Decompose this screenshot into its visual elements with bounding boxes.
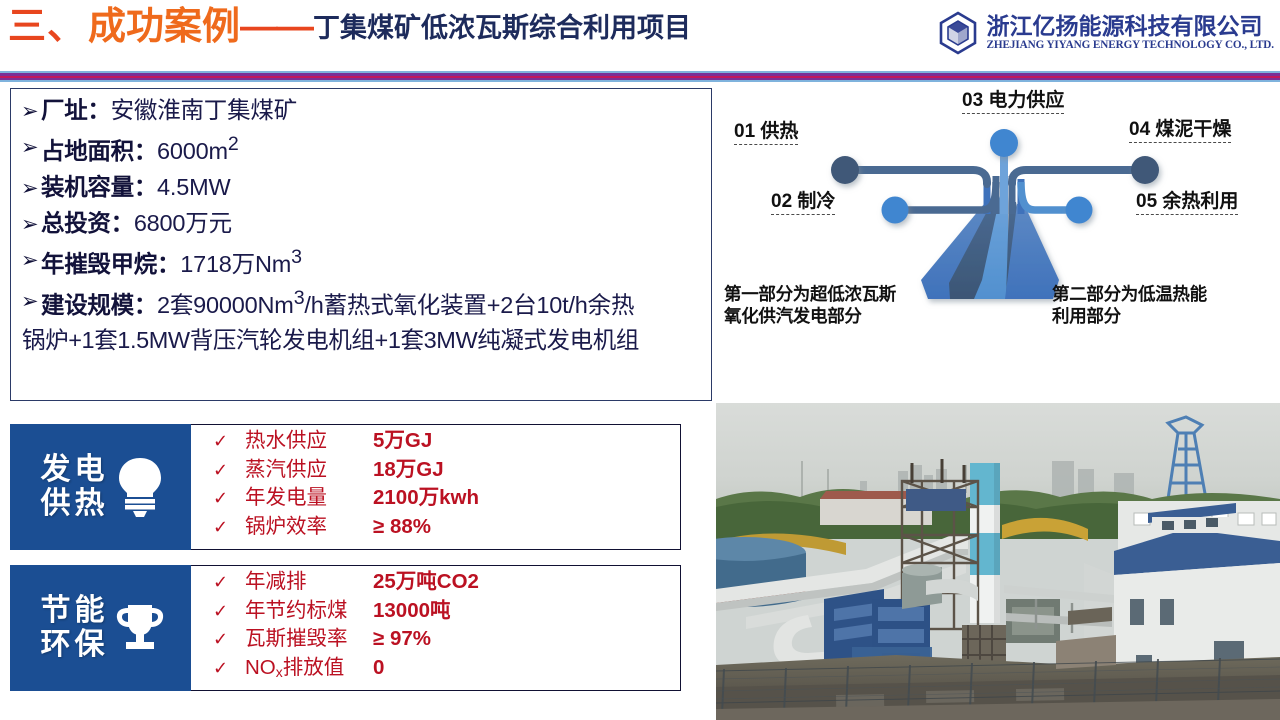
- diagram-caption-left: 第一部分为超低浓瓦斯 氧化供汽发电部分: [724, 284, 896, 328]
- card-badge-label: 节能 环保: [33, 594, 109, 661]
- check-icon: ✓: [213, 489, 245, 507]
- table-row: ✓ 年减排 25万吨CO2: [213, 572, 680, 593]
- info-value: 安徽淮南丁集煤矿: [111, 97, 297, 123]
- info-row-scale: ➢ 建设规模：2套90000Nm3/h蓄热式氧化装置+2台10t/h余热: [21, 289, 703, 317]
- info-value: 6800万元: [134, 210, 232, 236]
- info-separator: ：: [87, 97, 110, 123]
- lightbulb-icon: [111, 454, 169, 520]
- metric-label-suffix: 排放值: [283, 656, 345, 679]
- metric-value: 5万GJ: [373, 431, 432, 452]
- check-icon: ✓: [213, 461, 245, 479]
- info-separator: ：: [134, 291, 157, 317]
- diagram-label-02: 02 制冷: [771, 192, 835, 215]
- check-icon: ✓: [213, 659, 245, 677]
- info-label: 占地面积: [41, 138, 134, 164]
- slide-header: 三、 成功案例 —— 丁集煤矿低浓瓦斯综合利用项目 浙江亿扬能源科技有限公司 Z…: [0, 0, 1280, 72]
- diagram-caption-right-line2: 利用部分: [1052, 306, 1207, 328]
- page-title: 三、 成功案例 —— 丁集煤矿低浓瓦斯综合利用项目: [8, 8, 691, 46]
- info-value-part-b: /h蓄热式氧化装置+2台10t/h余热: [304, 291, 634, 317]
- card-badge: 节能 环保: [10, 565, 191, 691]
- card-energy-saving: 节能 环保 ✓ 年减排 25万吨CO2 ✓ 年节约标煤 13000吨 ✓ 瓦斯摧…: [10, 565, 681, 691]
- card-badge-label: 发电 供热: [33, 453, 109, 520]
- card-badge-label-line2: 供热: [41, 487, 109, 521]
- metric-label-prefix: NO: [245, 656, 276, 679]
- info-label: 年摧毁甲烷: [41, 251, 157, 277]
- check-icon: ✓: [213, 432, 245, 450]
- table-row: ✓ 年发电量 2100万kwh: [213, 488, 680, 509]
- node-01: [831, 156, 859, 184]
- info-value-part-a: 2套90000Nm: [157, 291, 294, 317]
- table-row: ✓ 瓦斯摧毁率 ≥ 97%: [213, 629, 680, 650]
- check-icon: ✓: [213, 518, 245, 536]
- metric-label: 蒸汽供应: [245, 460, 373, 481]
- title-dash: ——: [240, 8, 312, 46]
- info-value: 4.5MW: [157, 174, 230, 200]
- table-row: ✓ NOx排放值 0: [213, 658, 680, 679]
- info-separator: ：: [157, 251, 180, 277]
- header-divider: [0, 71, 1280, 82]
- arrow-bullet-icon: ➢: [21, 214, 41, 235]
- info-row-methane: ➢ 年摧毁甲烷：1718万Nm3: [21, 248, 703, 276]
- metric-value: 13000吨: [373, 601, 451, 622]
- hexagon-cube-logo-icon: [935, 10, 981, 56]
- info-value-sup: 3: [291, 246, 302, 268]
- metric-value: 18万GJ: [373, 460, 444, 481]
- diagram-label-04: 04 煤泥干燥: [1129, 120, 1231, 143]
- info-value: 6000m: [157, 138, 228, 164]
- check-icon: ✓: [213, 573, 245, 591]
- metric-value: ≥ 88%: [373, 517, 431, 538]
- metric-label-subscript: x: [276, 664, 283, 680]
- info-row-capacity: ➢ 装机容量：4.5MW: [21, 176, 703, 200]
- node-03: [990, 129, 1018, 157]
- company-logo: 浙江亿扬能源科技有限公司 ZHEJIANG YIYANG ENERGY TECH…: [935, 10, 1274, 56]
- metric-label: 瓦斯摧毁率: [245, 629, 373, 650]
- table-row: ✓ 年节约标煤 13000吨: [213, 601, 680, 622]
- arrow-bullet-icon: ➢: [21, 137, 41, 158]
- info-row-scale-continued: 锅炉+1套1.5MW背压汽轮发电机组+1套3MW纯凝式发电机组: [21, 329, 703, 353]
- card-badge-label-line1: 发电: [41, 453, 109, 487]
- card-badge-label-line1: 节能: [41, 594, 109, 628]
- diagram-label-05: 05 余热利用: [1136, 192, 1238, 215]
- site-photo-graphic: [716, 403, 1280, 720]
- diagram-caption-left-line2: 氧化供汽发电部分: [724, 306, 896, 328]
- node-02: [882, 197, 909, 224]
- info-separator: ：: [111, 210, 134, 236]
- info-separator: ：: [134, 174, 157, 200]
- company-name-en: ZHEJIANG YIYANG ENERGY TECHNOLOGY CO., L…: [987, 39, 1274, 52]
- arrow-bullet-icon: ➢: [21, 101, 41, 122]
- table-row: ✓ 蒸汽供应 18万GJ: [213, 460, 680, 481]
- info-label: 厂址: [41, 97, 87, 123]
- info-label: 总投资: [41, 210, 111, 236]
- table-row: ✓ 锅炉效率 ≥ 88%: [213, 517, 680, 538]
- diagram-caption-right-line1: 第二部分为低温热能: [1052, 284, 1207, 306]
- info-row-area: ➢ 占地面积：6000m2: [21, 135, 703, 163]
- arrow-bullet-icon: ➢: [21, 250, 41, 271]
- metric-label: 年发电量: [245, 488, 373, 509]
- diagram-label-03: 03 电力供应: [962, 91, 1064, 114]
- metric-value: 0: [373, 658, 384, 679]
- info-value-sup: 2: [228, 133, 239, 155]
- metric-value: 25万吨CO2: [373, 572, 479, 593]
- check-icon: ✓: [213, 602, 245, 620]
- metric-value: ≥ 97%: [373, 629, 431, 650]
- metric-value: 2100万kwh: [373, 488, 479, 509]
- card-metrics-table: ✓ 热水供应 5万GJ ✓ 蒸汽供应 18万GJ ✓ 年发电量 2100万kwh…: [191, 424, 681, 550]
- info-value: 1718万Nm: [180, 251, 291, 277]
- project-site-photo: [716, 403, 1280, 720]
- diagram-caption-left-line1: 第一部分为超低浓瓦斯: [724, 284, 896, 306]
- arrow-bullet-icon: ➢: [21, 291, 41, 312]
- info-separator: ：: [134, 138, 157, 164]
- card-badge-label-line2: 环保: [41, 628, 109, 662]
- node-04: [1131, 156, 1159, 184]
- energy-distribution-diagram: 01 供热 02 制冷 03 电力供应 04 煤泥干燥 05 余热利用 第一部分…: [716, 84, 1280, 402]
- card-badge: 发电 供热: [10, 424, 191, 550]
- card-metrics-table: ✓ 年减排 25万吨CO2 ✓ 年节约标煤 13000吨 ✓ 瓦斯摧毁率 ≥ 9…: [191, 565, 681, 691]
- logo-text-group: 浙江亿扬能源科技有限公司 ZHEJIANG YIYANG ENERGY TECH…: [987, 14, 1274, 52]
- table-row: ✓ 热水供应 5万GJ: [213, 431, 680, 452]
- info-row-site: ➢ 厂址：安徽淮南丁集煤矿: [21, 99, 703, 123]
- metric-label: 热水供应: [245, 431, 373, 452]
- card-power-generation: 发电 供热 ✓ 热水供应 5万GJ ✓ 蒸汽供应 18万GJ ✓ 年发电量: [10, 424, 681, 550]
- node-05: [1066, 197, 1093, 224]
- check-icon: ✓: [213, 630, 245, 648]
- info-label: 装机容量: [41, 174, 134, 200]
- title-subject: 丁集煤矿低浓瓦斯综合利用项目: [313, 15, 691, 42]
- metric-label: NOx排放值: [245, 658, 373, 679]
- metric-label: 年减排: [245, 572, 373, 593]
- title-main: 成功案例: [88, 8, 240, 46]
- project-info-panel: ➢ 厂址：安徽淮南丁集煤矿 ➢ 占地面积：6000m2 ➢ 装机容量：4.5MW…: [10, 88, 712, 401]
- metric-label: 锅炉效率: [245, 517, 373, 538]
- diagram-caption-right: 第二部分为低温热能 利用部分: [1052, 284, 1207, 328]
- info-label: 建设规模: [41, 291, 134, 317]
- info-value-sup: 3: [294, 287, 305, 309]
- info-row-investment: ➢ 总投资：6800万元: [21, 212, 703, 236]
- company-name-cn: 浙江亿扬能源科技有限公司: [987, 14, 1274, 39]
- metric-label: 年节约标煤: [245, 601, 373, 622]
- diagram-label-01: 01 供热: [734, 122, 798, 145]
- title-number: 三、: [8, 8, 86, 46]
- arrow-bullet-icon: ➢: [21, 178, 41, 199]
- trophy-icon: [111, 595, 169, 661]
